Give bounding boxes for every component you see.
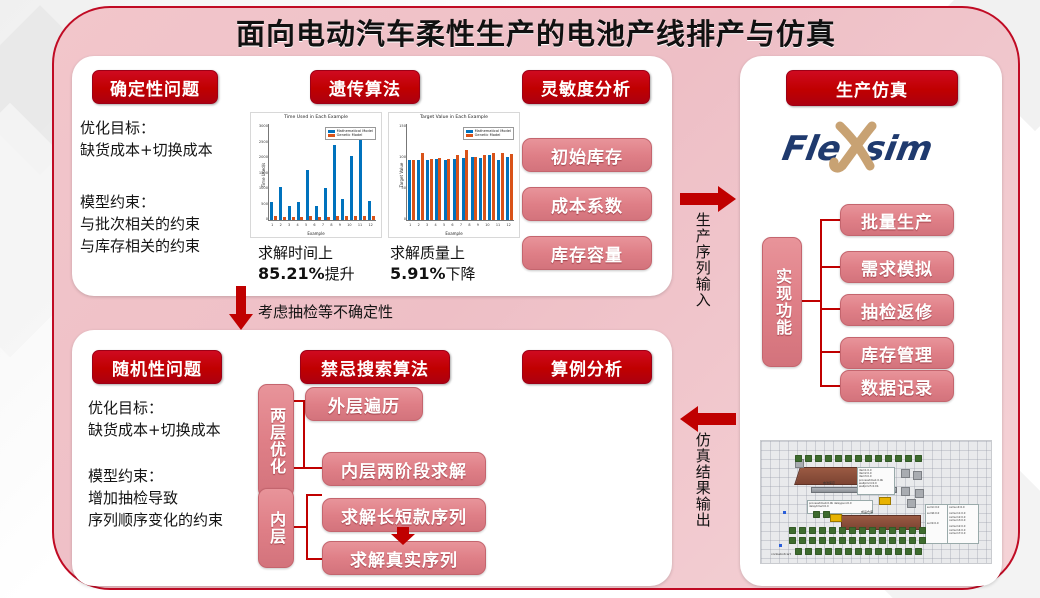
button-two-layer-optimization[interactable]: 两层优化 <box>258 384 294 498</box>
chart-bar <box>447 159 450 220</box>
button-inner-layer[interactable]: 内层 <box>258 488 294 568</box>
simulation-pallet <box>899 527 906 534</box>
chart-x-label: Example <box>251 231 381 236</box>
tabu-connector <box>292 467 322 469</box>
simulation-pallet <box>799 537 806 544</box>
chart-bar <box>488 155 491 220</box>
chart-x-tick: 4 <box>435 223 437 230</box>
simulation-pallet <box>849 527 856 534</box>
chart-bar <box>510 154 513 220</box>
simulation-pallet <box>839 527 846 534</box>
simulation-pallet <box>819 527 826 534</box>
simulation-pallet <box>865 455 872 462</box>
simulation-pallet <box>859 537 866 544</box>
chart-bar <box>327 217 330 220</box>
chart-bar <box>417 160 420 220</box>
chart-bar <box>324 188 327 220</box>
simulation-pallet <box>829 527 836 534</box>
simulation-pallet <box>855 455 862 462</box>
simulation-pallet <box>905 548 912 555</box>
chart-bar <box>372 216 375 220</box>
chart-bar <box>354 216 357 220</box>
chart-x-tick: 9 <box>339 223 341 230</box>
simulation-pallet <box>915 548 922 555</box>
chart-x-tick: 10 <box>485 223 489 230</box>
chart-x-tick: 2 <box>280 223 282 230</box>
chart-bar-group <box>279 124 286 220</box>
metric-solve-quality: 求解质量上 5.91%下降 <box>390 243 476 285</box>
chart-bar-group <box>453 124 460 220</box>
chart-bar <box>474 157 477 220</box>
chart-bar <box>462 158 465 220</box>
function-tree-connector <box>820 385 840 387</box>
header-sensitivity-analysis[interactable]: 灵敏度分析 <box>522 70 650 104</box>
chart-x-tick: 7 <box>322 223 324 230</box>
metric-solve-quality-value: 5.91% <box>390 264 446 283</box>
flow-label-sequence-input: 生产序列输入 <box>694 212 710 332</box>
chart-bar <box>506 157 509 220</box>
chart-x-tick: 10 <box>347 223 351 230</box>
simulation-stats-left: sumC:0.0 sumR:0.0 sumt:0.0 <box>925 504 949 544</box>
chart-x-tick: 1 <box>409 223 411 230</box>
chart-bar-group <box>426 124 433 220</box>
chart-x-tick: 1 <box>271 223 273 230</box>
simulation-box <box>913 471 922 480</box>
chart-x-tick: 8 <box>468 223 470 230</box>
arrow-down-icon <box>228 286 254 330</box>
chart-y-tick: 3000 <box>259 124 268 128</box>
chart-bar-group <box>435 124 442 220</box>
simulation-pallet <box>809 537 816 544</box>
chart-bar <box>359 139 362 220</box>
button-data-logging[interactable]: 数据记录 <box>840 370 954 402</box>
simulation-pallet <box>869 527 876 534</box>
simulation-pallet <box>813 511 820 518</box>
chart-x-tick: 6 <box>313 223 315 230</box>
chart-legend: Mathematical ModelGenetic Model <box>325 127 376 140</box>
function-tree-connector <box>820 219 840 221</box>
chart-bar <box>318 217 321 220</box>
simulation-pallet <box>839 537 846 544</box>
chart-bar <box>270 202 273 220</box>
chart-y-label: Time Used/s <box>261 163 266 188</box>
chart-bar <box>421 153 424 220</box>
function-tree-connector <box>820 219 822 386</box>
chart-x-ticks: 123456789101112 <box>406 223 514 230</box>
simulation-pallet <box>795 548 802 555</box>
chart-bar <box>438 158 441 220</box>
button-batch-production[interactable]: 批量生产 <box>840 204 954 236</box>
chart-bar <box>453 159 456 220</box>
chart-y-tick: 500 <box>261 202 268 206</box>
chart-y-tick: 2000 <box>259 155 268 159</box>
chart-bar <box>368 201 371 220</box>
button-inner-two-stage-solve[interactable]: 内层两阶段求解 <box>322 452 486 486</box>
chart-bar <box>412 160 415 220</box>
chart-x-ticks: 123456789101112 <box>268 223 376 230</box>
simulation-pallet <box>805 548 812 555</box>
chart-legend-swatch <box>466 130 473 133</box>
button-cost-coefficient[interactable]: 成本系数 <box>522 187 652 221</box>
chart-bar <box>341 199 344 220</box>
simulation-pallet <box>915 455 922 462</box>
simulation-agv <box>879 497 891 505</box>
simulation-marker <box>783 511 786 514</box>
chart-bar <box>306 170 309 220</box>
chart-bar <box>350 156 353 220</box>
chart-x-tick: 12 <box>368 223 372 230</box>
chart-bar <box>430 159 433 220</box>
button-inspection-rework[interactable]: 抽检返修 <box>840 294 954 326</box>
chart-bar-group <box>315 124 322 220</box>
header-production-simulation[interactable]: 生产仿真 <box>786 70 958 106</box>
header-case-analysis[interactable]: 算例分析 <box>522 350 652 384</box>
chart-bar <box>300 217 303 220</box>
chart-y-label: Target Value <box>399 163 404 188</box>
chart-bar <box>479 158 482 220</box>
chart-bar <box>315 206 318 220</box>
simulation-pallet <box>899 537 906 544</box>
simulation-pallet <box>845 548 852 555</box>
function-tree-connector <box>820 351 840 353</box>
arrow-left-icon <box>680 406 736 432</box>
simulation-pallet <box>795 455 802 462</box>
tabu-connector <box>306 494 308 560</box>
function-tree-connector <box>800 300 822 302</box>
chart-x-tick: 5 <box>305 223 307 230</box>
metric-solve-quality-suffix: 下降 <box>446 265 476 283</box>
simulation-pallet <box>809 527 816 534</box>
simulation-screenshot[interactable]: item1:0.0 item2:0.0 item3:0.0 processtim… <box>760 440 992 564</box>
header-genetic-algorithm[interactable]: 遗传算法 <box>310 70 420 104</box>
chart-legend-swatch <box>466 134 473 137</box>
simulation-box <box>915 489 924 498</box>
header-stochastic-problem[interactable]: 随机性问题 <box>92 350 222 384</box>
simulation-pallet <box>855 548 862 555</box>
simulation-pallet <box>815 548 822 555</box>
simulation-tooltip-1: item1:0.0 item2:0.0 item3:0.0 processtim… <box>857 467 895 495</box>
chart-bar <box>333 145 336 220</box>
chart-bar <box>288 206 291 220</box>
chart-bar-group <box>306 124 313 220</box>
simulation-stats-right: camunit:0.0 camum1:0.0 camum2:0.0 camum3… <box>947 504 979 544</box>
simulation-pallet <box>815 455 822 462</box>
simulation-rack-label-2: 成品仓库 <box>861 510 873 514</box>
simulation-pallet <box>819 537 826 544</box>
simulation-pallet <box>829 537 836 544</box>
chart-bar <box>483 155 486 220</box>
function-tree-connector <box>820 308 840 310</box>
chart-x-tick: 9 <box>477 223 479 230</box>
simulation-marker <box>779 544 782 547</box>
chart-bar <box>297 202 300 220</box>
simulation-pallet <box>825 455 832 462</box>
chart-x-tick: 3 <box>426 223 428 230</box>
chart-target-value: Target Value in Each Example 150100500 T… <box>388 112 520 238</box>
simulation-pallet <box>885 455 892 462</box>
chart-bar <box>465 150 468 220</box>
metric-solve-time-suffix: 提升 <box>325 265 355 283</box>
simulation-pallet <box>865 548 872 555</box>
function-tree-connector <box>820 266 840 268</box>
tabu-connector <box>306 558 322 560</box>
button-outer-traverse[interactable]: 外层遍历 <box>305 387 423 421</box>
simulation-pallet <box>889 527 896 534</box>
chart-bar-group <box>408 124 415 220</box>
simulation-pallet <box>869 537 876 544</box>
metric-solve-quality-caption: 求解质量上 <box>390 244 465 262</box>
chart-x-tick: 11 <box>496 223 500 230</box>
chart-x-tick: 11 <box>358 223 362 230</box>
simulation-pallet <box>905 455 912 462</box>
simulation-agv <box>830 514 842 522</box>
simulation-pallet <box>789 527 796 534</box>
chart-bar <box>492 153 495 220</box>
simulation-pallet <box>919 537 926 544</box>
chart-time-used: Time Used in Each Example 30002500200015… <box>250 112 382 238</box>
flow-label-simulation-output: 仿真结果输出 <box>694 432 710 552</box>
chart-legend-swatch <box>328 134 335 137</box>
chart-x-tick: 6 <box>451 223 453 230</box>
chart-bar <box>279 187 282 220</box>
simulation-box <box>907 499 916 508</box>
simulation-pallet <box>845 455 852 462</box>
chart-x-tick: 3 <box>288 223 290 230</box>
flexsim-logo-icon: Fle sim <box>766 120 976 174</box>
chart-x-tick: 7 <box>460 223 462 230</box>
chart-x-tick: 5 <box>443 223 445 230</box>
chart-legend-label: Genetic Model <box>475 133 501 137</box>
chart-y-tick: 2500 <box>259 140 268 144</box>
chart-bar <box>497 160 500 220</box>
chart-x-tick: 8 <box>330 223 332 230</box>
simulation-pallet <box>875 455 882 462</box>
chart-bar <box>336 216 339 220</box>
simulation-pallet <box>835 548 842 555</box>
chart-bar <box>274 216 277 220</box>
chart-x-tick: 4 <box>297 223 299 230</box>
simulation-pallet <box>823 511 830 518</box>
page-title: 面向电动汽车柔性生产的电池产线排产与仿真 <box>52 8 1020 56</box>
chart-bar <box>363 216 366 220</box>
tabu-connector <box>306 494 322 496</box>
chart-bar-group <box>270 124 277 220</box>
metric-solve-time-value: 85.21% <box>258 264 325 283</box>
button-initial-stock[interactable]: 初始库存 <box>522 138 652 172</box>
chart-bar-group <box>297 124 304 220</box>
transition-note: 考虑抽检等不确定性 <box>258 301 393 322</box>
chart-bar <box>309 216 312 220</box>
metric-solve-time: 求解时间上 85.21%提升 <box>258 243 355 285</box>
chart-y-tick: 100 <box>399 155 406 159</box>
simulation-rack-label-1: 电池库存 <box>823 481 835 485</box>
arrow-right-icon <box>680 186 736 212</box>
deterministic-objective-text: 优化目标： 缺货成本+切换成本 <box>80 118 270 162</box>
simulation-pallet <box>789 537 796 544</box>
chart-x-label: Example <box>389 231 519 236</box>
button-solve-real-sequence[interactable]: 求解真实序列 <box>322 541 486 575</box>
chart-x-tick: 2 <box>418 223 420 230</box>
simulation-pallet <box>825 548 832 555</box>
chart-bar <box>471 157 474 220</box>
simulation-pallet <box>885 548 892 555</box>
simulation-pallet <box>805 455 812 462</box>
simulation-pallet <box>875 548 882 555</box>
chart-bar <box>456 155 459 220</box>
simulation-box <box>901 487 910 496</box>
chart-bar <box>426 160 429 220</box>
chart-bar-group <box>417 124 424 220</box>
header-deterministic-problem[interactable]: 确定性问题 <box>92 70 218 104</box>
chart-bar <box>408 160 411 220</box>
button-stock-capacity[interactable]: 库存容量 <box>522 236 652 270</box>
simulation-pallet <box>889 537 896 544</box>
chart-legend-swatch <box>328 130 335 133</box>
simulation-pallet <box>859 527 866 534</box>
chart-y-tick: 150 <box>399 124 406 128</box>
chart-x-tick: 12 <box>506 223 510 230</box>
simulation-pallet <box>919 527 926 534</box>
chart-title: Target Value in Each Example <box>389 115 519 120</box>
simulation-pallet <box>909 527 916 534</box>
chart-bar <box>501 153 504 220</box>
header-tabu-search[interactable]: 禁忌搜索算法 <box>300 350 450 384</box>
chart-bar-group <box>444 124 451 220</box>
simulation-pallet <box>835 455 842 462</box>
simulation-pallet <box>799 527 806 534</box>
chart-title: Time Used in Each Example <box>251 115 381 120</box>
button-demand-simulation[interactable]: 需求模拟 <box>840 251 954 283</box>
chart-bar <box>435 159 438 220</box>
button-realized-functions[interactable]: 实现功能 <box>762 237 802 367</box>
button-inventory-management[interactable]: 库存管理 <box>840 337 954 369</box>
chart-legend-label: Genetic Model <box>337 133 363 137</box>
metric-solve-time-caption: 求解时间上 <box>258 244 333 262</box>
chart-legend: Mathematical ModelGenetic Model <box>463 127 514 140</box>
simulation-caption: conbebotcart <box>771 552 791 556</box>
simulation-pallet <box>909 537 916 544</box>
simulation-box <box>901 469 910 478</box>
chart-bar <box>283 217 286 220</box>
arrow-down-small-icon <box>390 527 416 545</box>
simulation-pallet <box>849 537 856 544</box>
simulation-pallet <box>879 537 886 544</box>
chart-bar <box>292 217 295 220</box>
simulation-pallet <box>879 527 886 534</box>
chart-bar <box>345 216 348 220</box>
chart-legend-entry: Genetic Model <box>466 133 511 137</box>
chart-legend-entry: Genetic Model <box>328 133 373 137</box>
poster-page: 面向电动汽车柔性生产的电池产线排产与仿真 确定性问题 优化目标： 缺货成本+切换… <box>0 0 1040 598</box>
chart-bar <box>444 160 447 220</box>
simulation-pallet <box>895 548 902 555</box>
chart-bar-group <box>288 124 295 220</box>
simulation-pallet <box>895 455 902 462</box>
